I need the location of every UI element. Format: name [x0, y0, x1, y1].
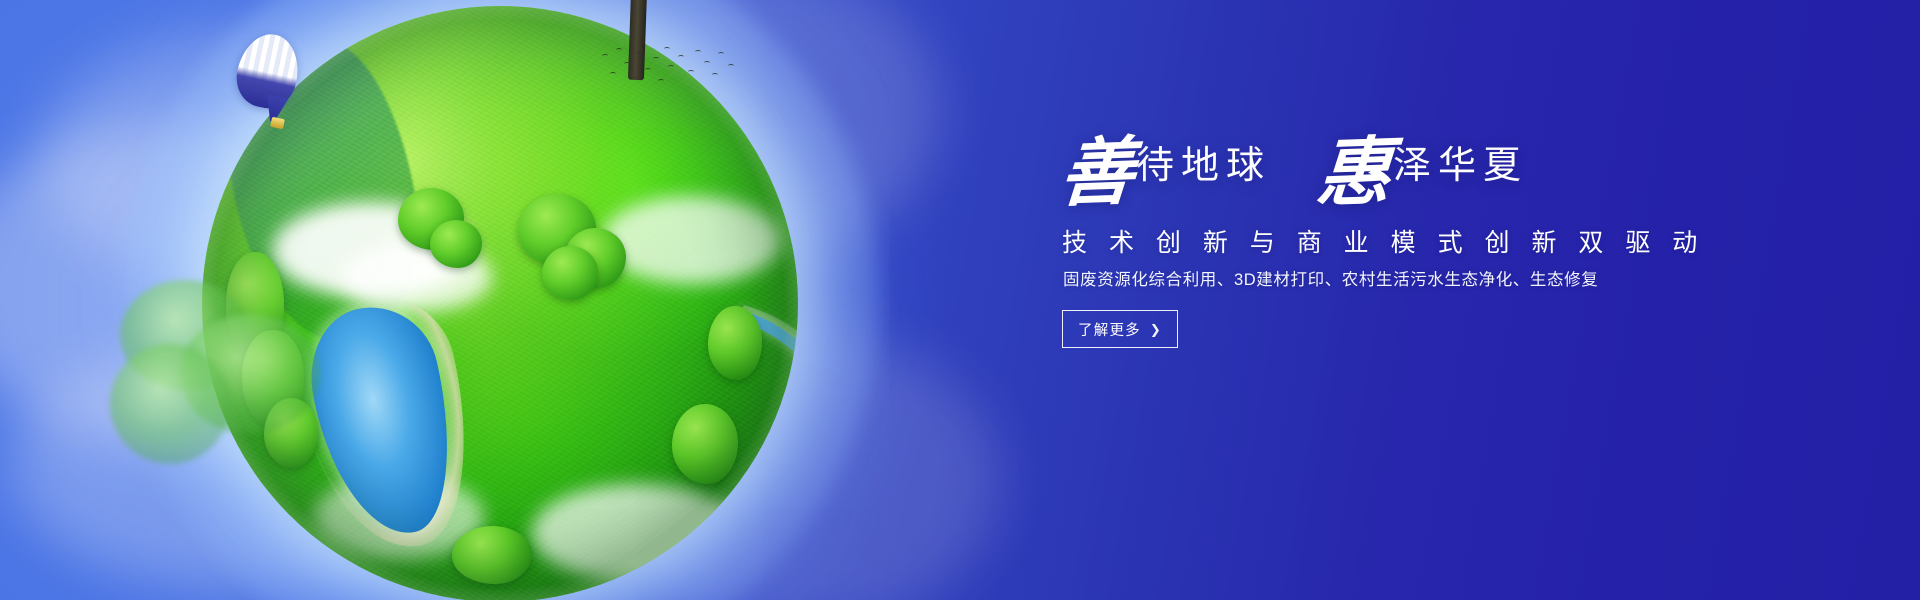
learn-more-label: 了解更多	[1078, 319, 1141, 340]
balloon-basket	[270, 117, 285, 129]
page-title: 善待地球惠泽华夏	[1060, 136, 1800, 234]
birds-icon	[598, 46, 738, 90]
headline-text-zehuaxia: 泽华夏	[1393, 146, 1528, 184]
hot-air-balloon-icon	[238, 34, 302, 138]
hero-banner: 善待地球惠泽华夏 技 术 创 新 与 商 业 模 式 创 新 双 驱 动 固废资…	[0, 0, 1920, 600]
banner-subtitle: 技 术 创 新 与 商 业 模 式 创 新 双 驱 动	[1062, 228, 1802, 258]
banner-content: 善待地球惠泽华夏 技 术 创 新 与 商 业 模 式 创 新 双 驱 动 固废资…	[1060, 0, 1800, 600]
headline-char-shan: 善	[1057, 135, 1136, 212]
tree-icon	[110, 274, 360, 524]
headline-text-daidiqiu: 待地球	[1136, 146, 1271, 184]
globe-illustration	[120, 0, 880, 600]
learn-more-button[interactable]: 了解更多 ❯	[1062, 310, 1178, 348]
chevron-right-icon: ❯	[1150, 323, 1162, 336]
headline-char-hui: 惠	[1314, 135, 1393, 212]
banner-description: 固废资源化综合利用、3D建材打印、农村生活污水生态净化、生态修复	[1063, 270, 1803, 291]
